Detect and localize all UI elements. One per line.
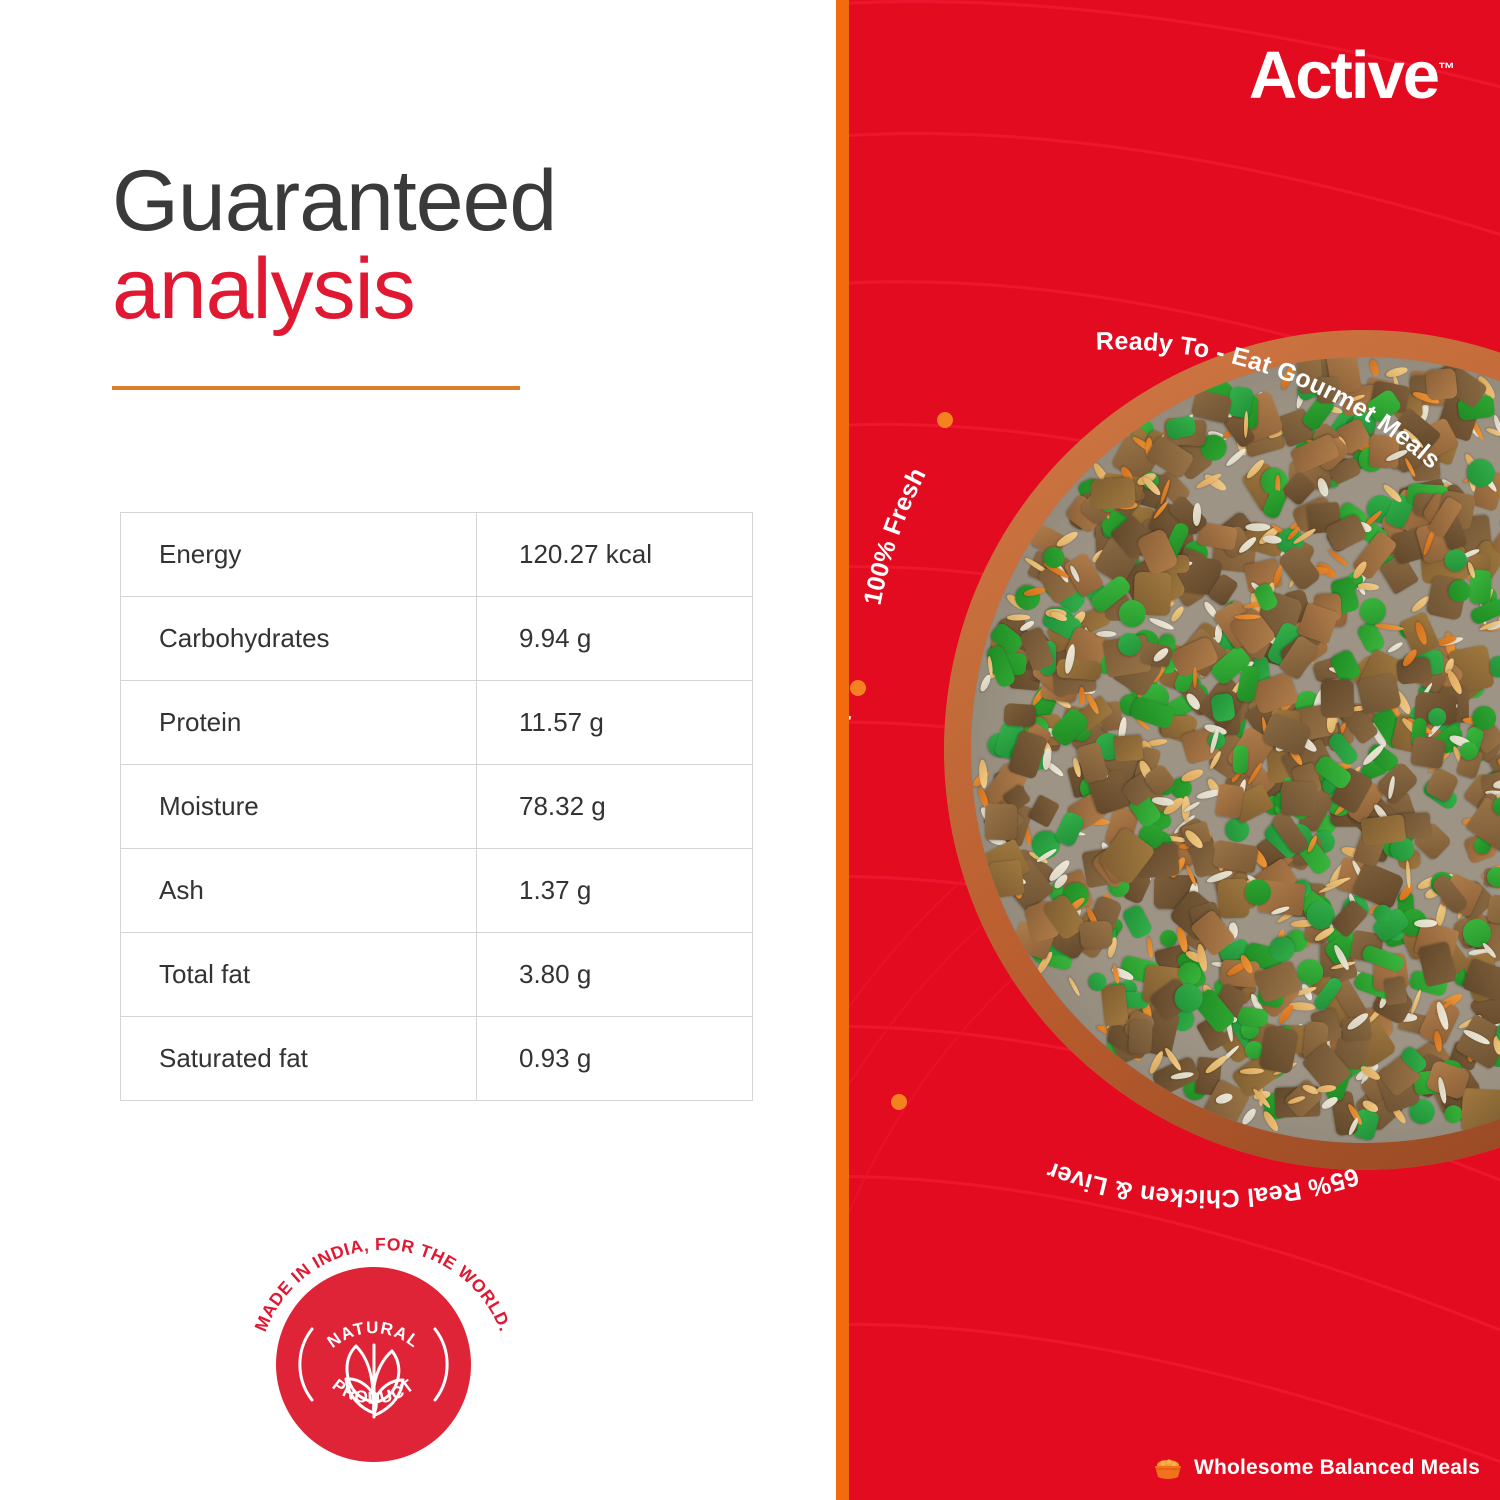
right-panel: Active™ Ready To - Eat Gourmet Meals bbox=[849, 0, 1500, 1500]
table-row: Ash 1.37 g bbox=[121, 849, 753, 933]
nutrient-label: Total fat bbox=[121, 933, 477, 1017]
left-panel: Guaranteed analysis Energy 120.27 kcal C… bbox=[0, 0, 836, 1500]
footer-label: Wholesome Balanced Meals bbox=[1153, 1456, 1480, 1480]
table-row: Energy 120.27 kcal bbox=[121, 513, 753, 597]
nutrient-value: 120.27 kcal bbox=[477, 513, 753, 597]
footer-label-text: Wholesome Balanced Meals bbox=[1194, 1456, 1480, 1480]
nutrient-value: 11.57 g bbox=[477, 681, 753, 765]
nutrient-value: 9.94 g bbox=[477, 597, 753, 681]
product-infographic: Guaranteed analysis Energy 120.27 kcal C… bbox=[0, 0, 1500, 1500]
claim-upper-left-textpath: 100% Fresh bbox=[859, 463, 932, 607]
nutrient-label: Protein bbox=[121, 681, 477, 765]
trademark-symbol: ™ bbox=[1438, 60, 1455, 79]
brand-logo: Active™ bbox=[1249, 42, 1455, 109]
bracket-right bbox=[435, 1329, 447, 1400]
claim-left-textpath: 35% Fruits, Veggies & Supplements bbox=[849, 208, 858, 1043]
nutrient-label: Moisture bbox=[121, 765, 477, 849]
claim-upper-left: 100% Fresh bbox=[859, 463, 932, 607]
brand-logo-text: Active bbox=[1249, 38, 1438, 113]
nutrient-value: 1.37 g bbox=[477, 849, 753, 933]
claim-top: Ready To - Eat Gourmet Meals bbox=[1096, 327, 1446, 474]
claim-bottom-textpath: 65% Real Chicken & Liver bbox=[1043, 1156, 1362, 1212]
separator-dot bbox=[891, 1094, 907, 1110]
nutrient-value: 0.93 g bbox=[477, 1017, 753, 1101]
separator-dot bbox=[850, 680, 866, 696]
orange-divider bbox=[836, 0, 849, 1500]
claims-ring: Ready To - Eat Gourmet Meals 100% Fresh … bbox=[849, 230, 1500, 1230]
claim-top-textpath: Ready To - Eat Gourmet Meals bbox=[1096, 327, 1446, 474]
nutrient-value: 3.80 g bbox=[477, 933, 753, 1017]
title-underline bbox=[112, 386, 520, 390]
badge-inner: NATURAL PRODUCT bbox=[276, 1267, 471, 1462]
claim-separator-dots bbox=[850, 412, 1500, 1110]
page-title: Guaranteed analysis bbox=[112, 158, 792, 333]
food-bowl-icon bbox=[1153, 1456, 1183, 1480]
title-line-guaranteed: Guaranteed bbox=[112, 158, 792, 246]
claim-left: 35% Fruits, Veggies & Supplements bbox=[849, 208, 858, 1043]
nutrient-value: 78.32 g bbox=[477, 765, 753, 849]
table-body: Energy 120.27 kcal Carbohydrates 9.94 g … bbox=[121, 513, 753, 1101]
table-row: Saturated fat 0.93 g bbox=[121, 1017, 753, 1101]
nutrient-label: Ash bbox=[121, 849, 477, 933]
table-row: Carbohydrates 9.94 g bbox=[121, 597, 753, 681]
nutrient-label: Energy bbox=[121, 513, 477, 597]
claim-bottom: 65% Real Chicken & Liver bbox=[1043, 1156, 1362, 1212]
table-row: Total fat 3.80 g bbox=[121, 933, 753, 1017]
nutrient-label: Saturated fat bbox=[121, 1017, 477, 1101]
table-row: Moisture 78.32 g bbox=[121, 765, 753, 849]
table-row: Protein 11.57 g bbox=[121, 681, 753, 765]
natural-product-badge: MADE IN INDIA, FOR THE WORLD. NATURAL PR… bbox=[238, 1225, 528, 1475]
leaf-icon bbox=[346, 1345, 403, 1417]
separator-dot bbox=[937, 412, 953, 428]
bracket-left bbox=[300, 1329, 312, 1400]
title-line-analysis: analysis bbox=[112, 246, 792, 334]
guaranteed-analysis-table: Energy 120.27 kcal Carbohydrates 9.94 g … bbox=[120, 512, 753, 1101]
nutrient-label: Carbohydrates bbox=[121, 597, 477, 681]
